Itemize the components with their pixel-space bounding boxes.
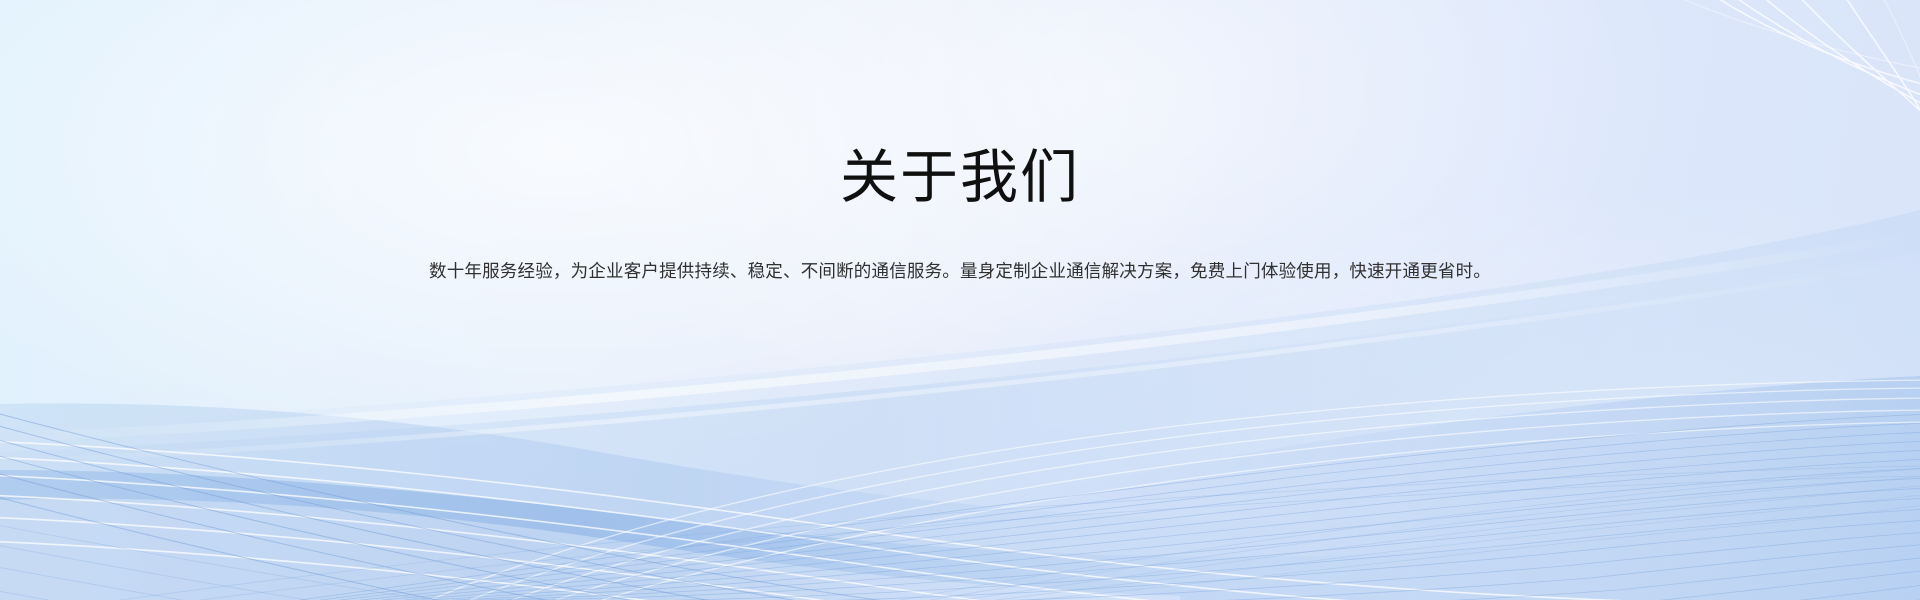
arc-line bbox=[0, 494, 1720, 600]
arc-line bbox=[430, 380, 1920, 600]
arc-line bbox=[512, 398, 1920, 600]
wave-band-left-lobe bbox=[0, 403, 1920, 600]
arc-line bbox=[0, 540, 860, 600]
arc-line bbox=[0, 474, 1720, 600]
wave-crest-highlight bbox=[0, 262, 1920, 462]
arc-line bbox=[0, 440, 1720, 600]
banner-copy: 关于我们 数十年服务经验，为企业客户提供持续、稳定、不间断的通信服务。量身定制企… bbox=[0, 0, 1920, 285]
arc-line bbox=[556, 410, 1920, 600]
wave-band-pale bbox=[0, 252, 1920, 600]
wave-band-center-deep bbox=[0, 470, 1920, 600]
wave-band-right-ridge bbox=[620, 376, 1920, 600]
wave-band-lower-left-wash bbox=[0, 499, 1180, 600]
arc-line bbox=[470, 388, 1920, 600]
page-subtitle: 数十年服务经验，为企业客户提供持续、稳定、不间断的通信服务。量身定制企业通信解决… bbox=[0, 209, 1920, 285]
arc-line bbox=[0, 516, 1720, 600]
about-us-banner: 关于我们 数十年服务经验，为企业客户提供持续、稳定、不间断的通信服务。量身定制企… bbox=[0, 0, 1920, 600]
arc-line bbox=[0, 456, 1720, 600]
arc-line bbox=[602, 422, 1920, 600]
page-title: 关于我们 bbox=[0, 0, 1920, 209]
